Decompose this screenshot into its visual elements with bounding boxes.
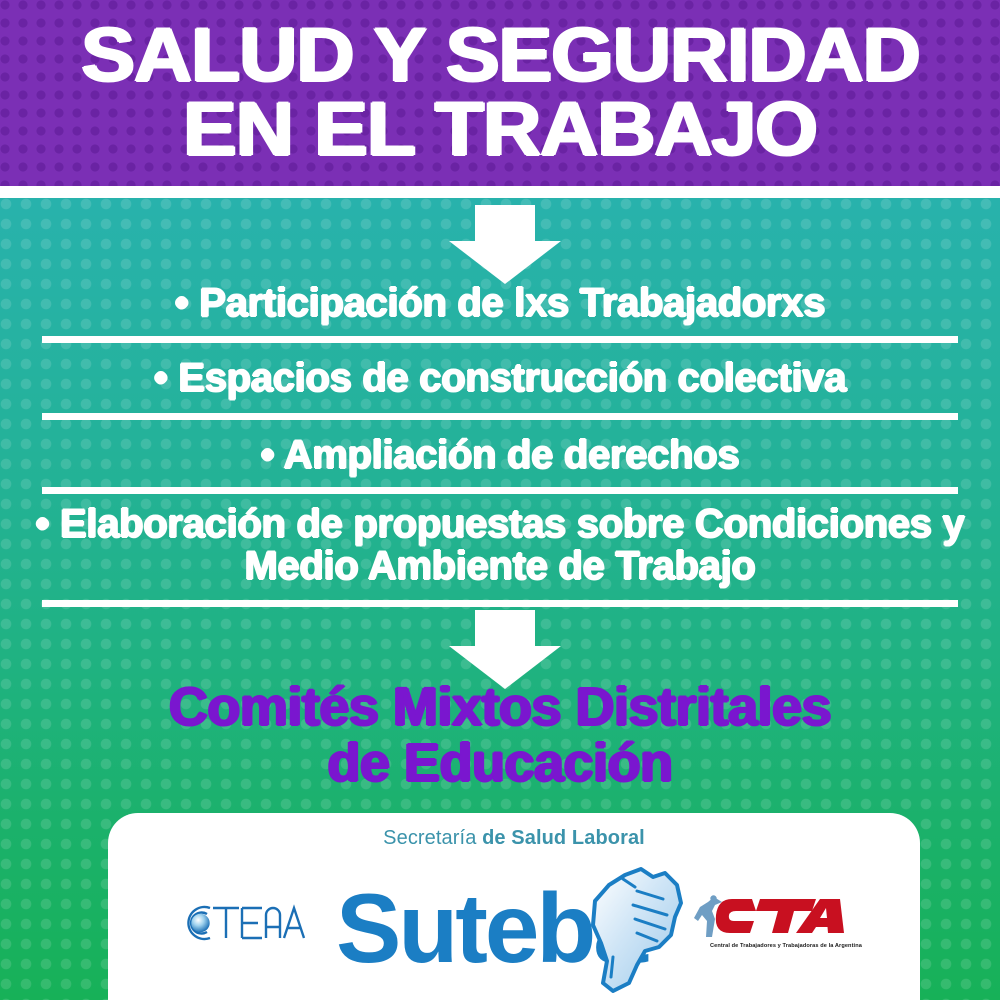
bullet-item-2: • Espacios de construcción colectiva xyxy=(0,358,1000,400)
suteba-handshake-icon xyxy=(579,865,689,993)
separator-line-4 xyxy=(42,600,958,607)
cta-logo: Central de Trabajadores y Trabajadoras d… xyxy=(688,891,848,963)
bullet-item-4: • Elaboración de propuestas sobre Condic… xyxy=(0,503,1000,588)
separator-line-3 xyxy=(42,487,958,494)
bullet-item-3: • Ampliación de derechos xyxy=(0,435,1000,477)
separator-line-2 xyxy=(42,413,958,420)
header-divider xyxy=(0,186,1000,198)
bullet-item-1: • Participación de lxs Trabajadorxs xyxy=(0,283,1000,325)
poster-body: • Participación de lxs Trabajadorxs • Es… xyxy=(0,198,1000,1000)
footer-card: Secretaría de Salud Laboral xyxy=(108,813,920,1000)
footer-title: Secretaría de Salud Laboral xyxy=(108,827,920,850)
poster-header: SALUD Y SEGURIDAD EN EL TRABAJO xyxy=(0,0,1000,186)
poster-canvas: SALUD Y SEGURIDAD EN EL TRABAJO • Partic… xyxy=(0,0,1000,1000)
logo-row: Suteba xyxy=(108,863,920,993)
separator-line-1 xyxy=(42,336,958,343)
header-title-line-1: SALUD Y SEGURIDAD xyxy=(81,21,919,91)
ctera-logo xyxy=(180,899,310,947)
suteba-logo: Suteba xyxy=(336,865,676,993)
headline-line-2: de Educación xyxy=(0,736,1000,792)
footer-title-bold: de Salud Laboral xyxy=(482,827,645,849)
arrow-head xyxy=(449,241,561,284)
headline-block: Comités Mixtos Distritales de Educación xyxy=(0,680,1000,791)
cta-logo-svg xyxy=(688,891,848,951)
header-title-line-2: EN EL TRABAJO xyxy=(183,95,817,165)
footer-title-light: Secretaría xyxy=(383,827,482,849)
ctera-logo-svg xyxy=(180,899,310,947)
down-arrow-icon-top xyxy=(449,205,561,283)
cta-letters xyxy=(716,899,844,933)
headline-line-1: Comités Mixtos Distritales xyxy=(0,680,1000,736)
cta-subtitle: Central de Trabajadores y Trabajadoras d… xyxy=(710,943,850,949)
arrow-shaft xyxy=(475,205,535,243)
arrow-shaft xyxy=(475,610,535,648)
